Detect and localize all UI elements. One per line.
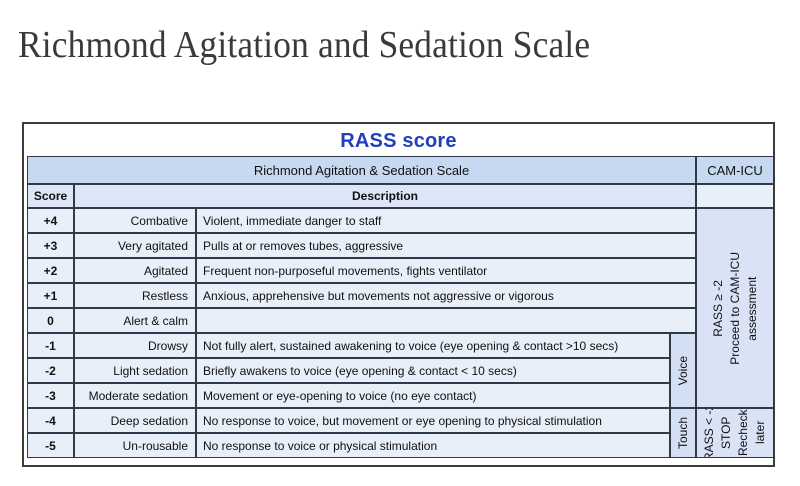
row-term: Combative xyxy=(74,208,196,233)
row-term: Light sedation xyxy=(74,358,196,383)
header-camicu-spacer xyxy=(696,184,774,208)
row-description: Briefly awakens to voice (eye opening & … xyxy=(196,358,670,383)
row-term: Moderate sedation xyxy=(74,383,196,408)
row-score: +1 xyxy=(27,283,74,308)
stimulus-touch-cell: Touch xyxy=(670,408,696,458)
camicu-proceed-cell: RASS ≥ -2 Proceed to CAM-ICU assessment xyxy=(696,208,774,408)
row-score: +4 xyxy=(27,208,74,233)
header-scale-title: Richmond Agitation & Sedation Scale xyxy=(27,156,696,184)
camicu-stop-label: RASS < -2 STOP Recheck later xyxy=(701,408,769,458)
row-score: +2 xyxy=(27,258,74,283)
row-term: Drowsy xyxy=(74,333,196,358)
column-header-score: Score xyxy=(27,184,74,208)
stimulus-voice-cell: Voice xyxy=(670,333,696,408)
banner-title: RASS score xyxy=(340,130,457,153)
row-score: +3 xyxy=(27,233,74,258)
row-description xyxy=(196,308,696,333)
page-title: Richmond Agitation and Sedation Scale xyxy=(18,22,590,68)
column-header-description: Description xyxy=(74,184,696,208)
row-description: Frequent non-purposeful movements, fight… xyxy=(196,258,696,283)
row-term: Restless xyxy=(74,283,196,308)
row-description: Pulls at or removes tubes, aggressive xyxy=(196,233,696,258)
stimulus-voice-label: Voice xyxy=(676,356,690,385)
row-score: -5 xyxy=(27,433,74,458)
row-description: Movement or eye-opening to voice (no eye… xyxy=(196,383,670,408)
camicu-stop-cell: RASS < -2 STOP Recheck later xyxy=(696,408,774,458)
row-term: Alert & calm xyxy=(74,308,196,333)
row-term: Un-rousable xyxy=(74,433,196,458)
rass-scale-table: RASS score Richmond Agitation & Sedation… xyxy=(22,122,775,467)
table-banner: RASS score xyxy=(27,127,770,156)
row-description: Violent, immediate danger to staff xyxy=(196,208,696,233)
row-score: -1 xyxy=(27,333,74,358)
row-description: No response to voice or physical stimula… xyxy=(196,433,670,458)
row-term: Agitated xyxy=(74,258,196,283)
row-score: -2 xyxy=(27,358,74,383)
row-score: -3 xyxy=(27,383,74,408)
row-score: 0 xyxy=(27,308,74,333)
stimulus-touch-label: Touch xyxy=(676,417,690,449)
row-term: Very agitated xyxy=(74,233,196,258)
camicu-proceed-label: RASS ≥ -2 Proceed to CAM-ICU assessment xyxy=(710,252,761,365)
row-score: -4 xyxy=(27,408,74,433)
row-description: Not fully alert, sustained awakening to … xyxy=(196,333,670,358)
row-description: No response to voice, but movement or ey… xyxy=(196,408,670,433)
header-camicu: CAM-ICU xyxy=(696,156,774,184)
row-term: Deep sedation xyxy=(74,408,196,433)
row-description: Anxious, apprehensive but movements not … xyxy=(196,283,696,308)
